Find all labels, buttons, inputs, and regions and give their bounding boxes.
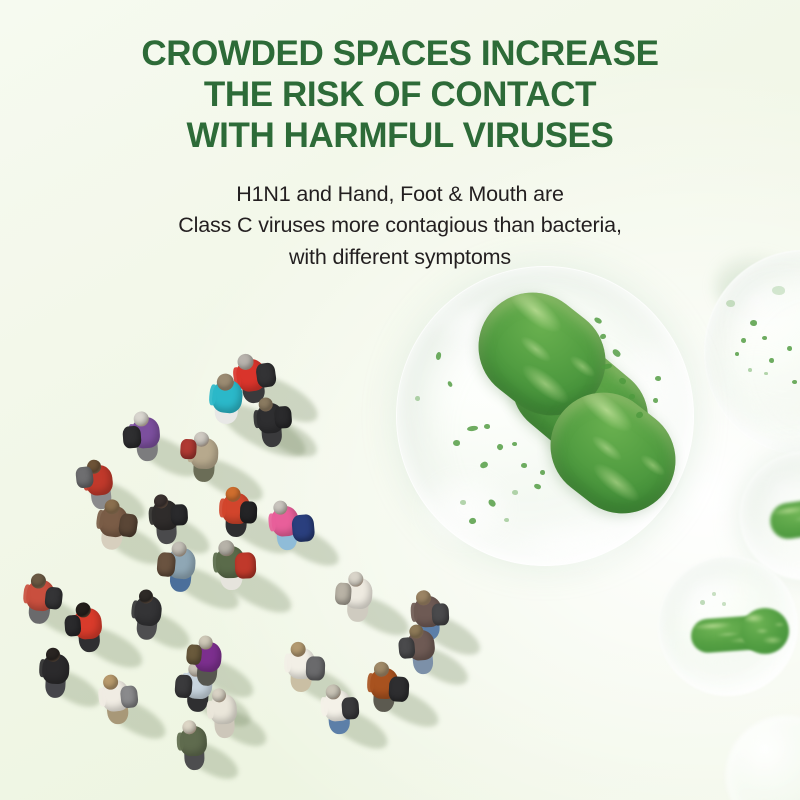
crowd-person <box>127 586 173 646</box>
page-title: CROWDED SPACES INCREASE THE RISK OF CONT… <box>0 34 800 157</box>
person-bag <box>255 362 277 388</box>
crowd-person <box>205 370 251 430</box>
person-bag <box>44 586 63 610</box>
person-arm <box>148 507 156 525</box>
person-bag <box>170 504 188 526</box>
person-arm <box>177 732 185 750</box>
crowd-person <box>402 620 447 679</box>
crowd-person <box>266 496 311 555</box>
person-arm <box>410 603 418 622</box>
person-bag <box>291 514 315 543</box>
headline-line-1: CROWDED SPACES INCREASE <box>0 34 800 75</box>
crowd-person <box>251 394 295 453</box>
subtitle-line-2: Class C viruses more contagious than bac… <box>0 210 800 242</box>
crowd-person <box>37 645 80 703</box>
crowd-person <box>19 570 65 630</box>
crowd-person <box>338 569 382 628</box>
person-bag <box>398 637 416 659</box>
headline-line-3: WITH HARMFUL VIRUSES <box>0 116 800 157</box>
subtitle-line-1: H1N1 and Hand, Foot & Mouth are <box>0 179 800 211</box>
crowd-person <box>185 429 228 487</box>
headline-line-2: THE RISK OF CONTACT <box>0 75 800 116</box>
crowd-person <box>365 659 408 717</box>
page-subtitle: H1N1 and Hand, Foot & Mouth are Class C … <box>0 179 800 274</box>
person-arm <box>219 498 227 517</box>
crowd-person <box>217 484 259 541</box>
poster-text-block: CROWDED SPACES INCREASE THE RISK OF CONT… <box>0 0 800 274</box>
crowd-person <box>95 670 141 730</box>
person-bag <box>122 426 141 449</box>
subtitle-line-3: with different symptoms <box>0 242 800 274</box>
crowd-person <box>211 537 253 594</box>
poster-canvas: CROWDED SPACES INCREASE THE RISK OF CONT… <box>0 0 800 800</box>
person-bag <box>335 582 352 605</box>
crowd-person <box>126 408 170 467</box>
person-bag <box>240 501 258 524</box>
person-arm <box>284 653 292 672</box>
person-arm <box>213 552 221 572</box>
crowd-person <box>188 632 233 691</box>
person-bag <box>64 615 81 637</box>
crowd-person <box>91 495 138 556</box>
person-bag <box>274 406 292 429</box>
person-bag <box>388 676 409 702</box>
person-bag <box>186 644 203 665</box>
person-bag <box>75 466 94 489</box>
person-bag <box>180 439 197 460</box>
crowd-person <box>318 681 362 740</box>
person-bag <box>235 552 257 579</box>
person-bag <box>306 656 326 681</box>
person-bag <box>341 697 359 720</box>
person-arm <box>206 701 214 719</box>
person-bag <box>156 552 176 577</box>
crowd-person <box>175 717 217 774</box>
person-bag <box>120 685 139 709</box>
